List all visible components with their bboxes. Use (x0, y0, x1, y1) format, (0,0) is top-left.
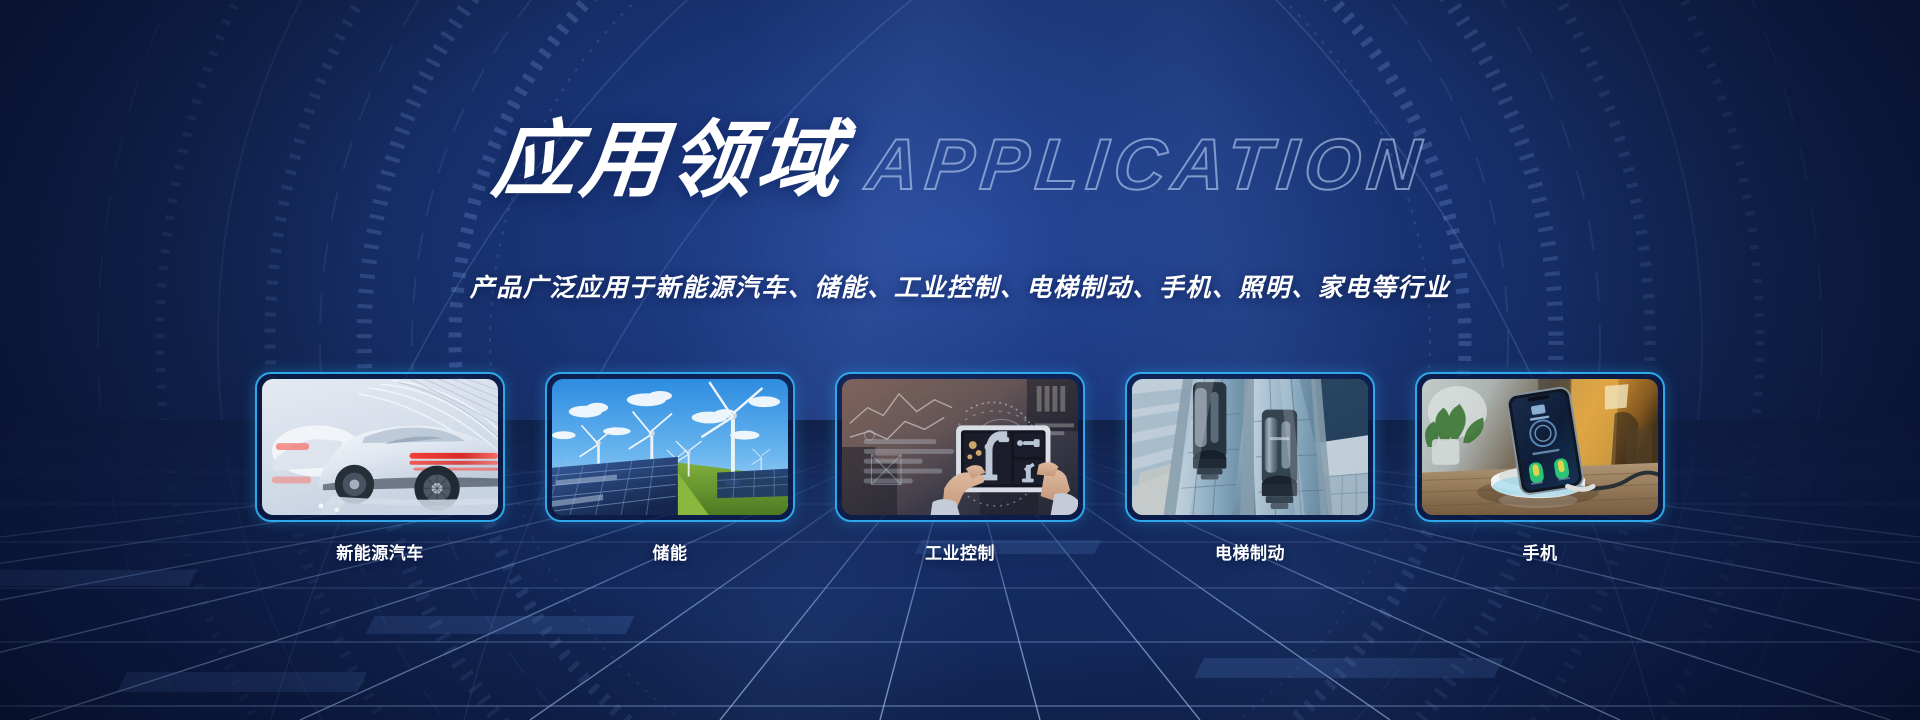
card-label: 工业控制 (835, 539, 1085, 564)
application-card[interactable]: 储能 (545, 372, 795, 564)
card-label: 手机 (1415, 539, 1665, 564)
application-card[interactable]: 新能源汽车 (255, 372, 505, 564)
smartphone-wireless-charger-image (1422, 379, 1658, 515)
page-title-english: APPLICATION (863, 129, 1430, 201)
application-card[interactable]: 工业控制 (835, 372, 1085, 564)
card-thumbnail-energy-storage (552, 379, 788, 515)
card-frame[interactable] (545, 372, 795, 522)
card-thumbnail-industrial-control (842, 379, 1078, 515)
application-card[interactable]: 电梯制动 (1125, 372, 1375, 564)
application-card-list: 新能源汽车 (0, 372, 1920, 564)
card-label: 储能 (545, 539, 795, 564)
card-thumbnail-elevator-braking (1132, 379, 1368, 515)
card-thumbnail-mobile-phone (1422, 379, 1658, 515)
tablet-automation-hud-image (842, 379, 1078, 515)
solar-wind-farm-image (552, 379, 788, 515)
headline-block: 应用领域 APPLICATION (0, 118, 1920, 202)
radar-rings-decoration (110, 0, 1810, 720)
card-frame[interactable] (1125, 372, 1375, 522)
application-card[interactable]: 手机 (1415, 372, 1665, 564)
concept-car-image (262, 379, 498, 515)
page-subtitle: 产品广泛应用于新能源汽车、储能、工业控制、电梯制动、手机、照明、家电等行业 (0, 268, 1920, 304)
card-frame[interactable] (255, 372, 505, 522)
application-banner: 应用领域 APPLICATION 产品广泛应用于新能源汽车、储能、工业控制、电梯… (0, 0, 1920, 720)
card-label: 新能源汽车 (255, 539, 505, 564)
card-thumbnail-new-energy-vehicle (262, 379, 498, 515)
card-frame[interactable] (835, 372, 1085, 522)
page-title: 应用领域 (489, 118, 850, 202)
card-frame[interactable] (1415, 372, 1665, 522)
card-label: 电梯制动 (1125, 539, 1375, 564)
glass-elevator-shafts-image (1132, 379, 1368, 515)
